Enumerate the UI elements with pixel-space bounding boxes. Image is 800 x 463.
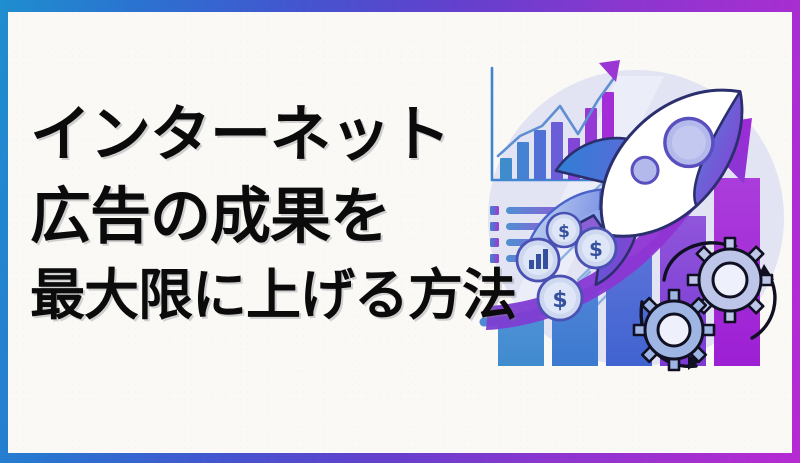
headline-line-1: インターネット [30,104,500,165]
svg-text:$: $ [552,288,567,313]
dollar-coin: $ [538,276,582,320]
headline-line-3: 最大限に上げる方法 [30,268,500,323]
headline-line-2: 広告の成果を [30,186,500,247]
chart-coin [517,239,559,281]
growth-rocket-illustration: $ $ [468,30,792,395]
gear-small [634,290,714,370]
headline-block: インターネット 広告の成果を 最大限に上げる方法 [30,104,500,323]
svg-text:$: $ [589,237,603,261]
svg-text:$: $ [558,222,570,242]
banner-inner-page: インターネット 広告の成果を 最大限に上げる方法 [8,12,792,453]
dollar-coin: $ [576,228,616,268]
banner-canvas: インターネット 広告の成果を 最大限に上げる方法 [0,0,800,463]
